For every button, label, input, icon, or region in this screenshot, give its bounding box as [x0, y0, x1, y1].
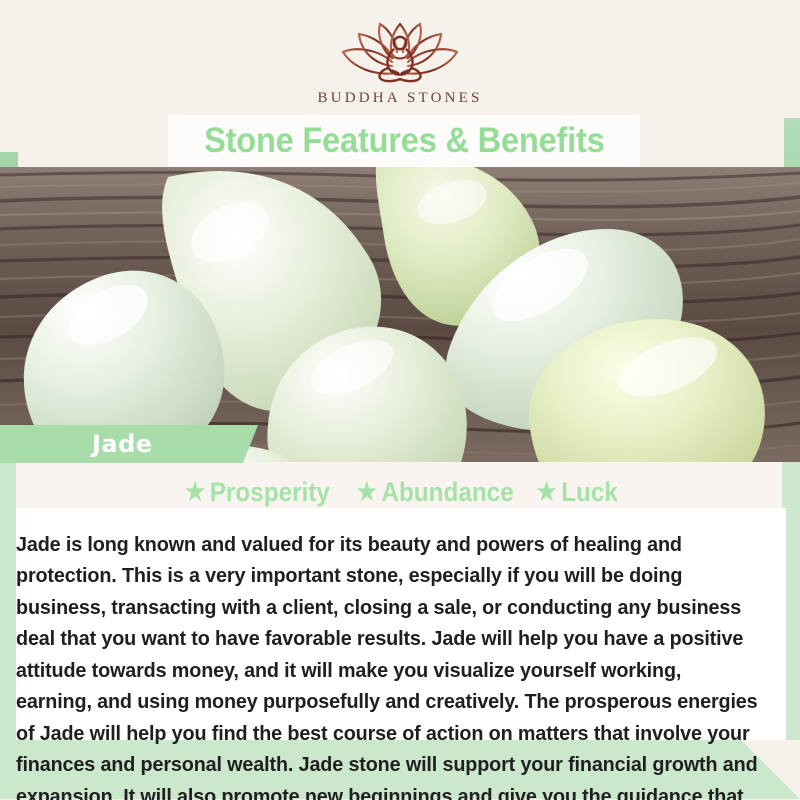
stone-photo: [0, 167, 800, 462]
keyword-label: Luck: [562, 477, 619, 508]
stone-name-banner: Jade: [0, 425, 258, 463]
keyword-list: ★ Prosperity ★ Abundance ★ Luck: [0, 476, 800, 508]
description-panel: Jade is long known and valued for its be…: [16, 508, 786, 740]
logo-lockup: BUDDHA STONES: [0, 18, 800, 107]
page-title-banner: Stone Features & Benefits: [168, 115, 640, 167]
keyword-luck: ★ Luck: [537, 477, 618, 508]
keyword-label: Abundance: [381, 477, 513, 508]
infographic-page: BUDDHA STONES Stone Features & Benefits: [0, 0, 800, 800]
page-title: Stone Features & Benefits: [204, 121, 605, 161]
stone-name-label: Jade: [92, 430, 153, 458]
star-icon: ★: [185, 480, 205, 505]
brand-wordmark: BUDDHA STONES: [0, 90, 800, 107]
brand-header: BUDDHA STONES: [0, 0, 800, 118]
lotus-meditation-icon: [335, 18, 465, 86]
keyword-prosperity: ★ Prosperity: [185, 477, 330, 508]
star-icon: ★: [357, 480, 377, 505]
star-icon: ★: [537, 480, 557, 505]
keyword-label: Prosperity: [210, 477, 330, 508]
description-text: Jade is long known and valued for its be…: [16, 529, 759, 800]
keyword-abundance: ★ Abundance: [357, 477, 514, 508]
